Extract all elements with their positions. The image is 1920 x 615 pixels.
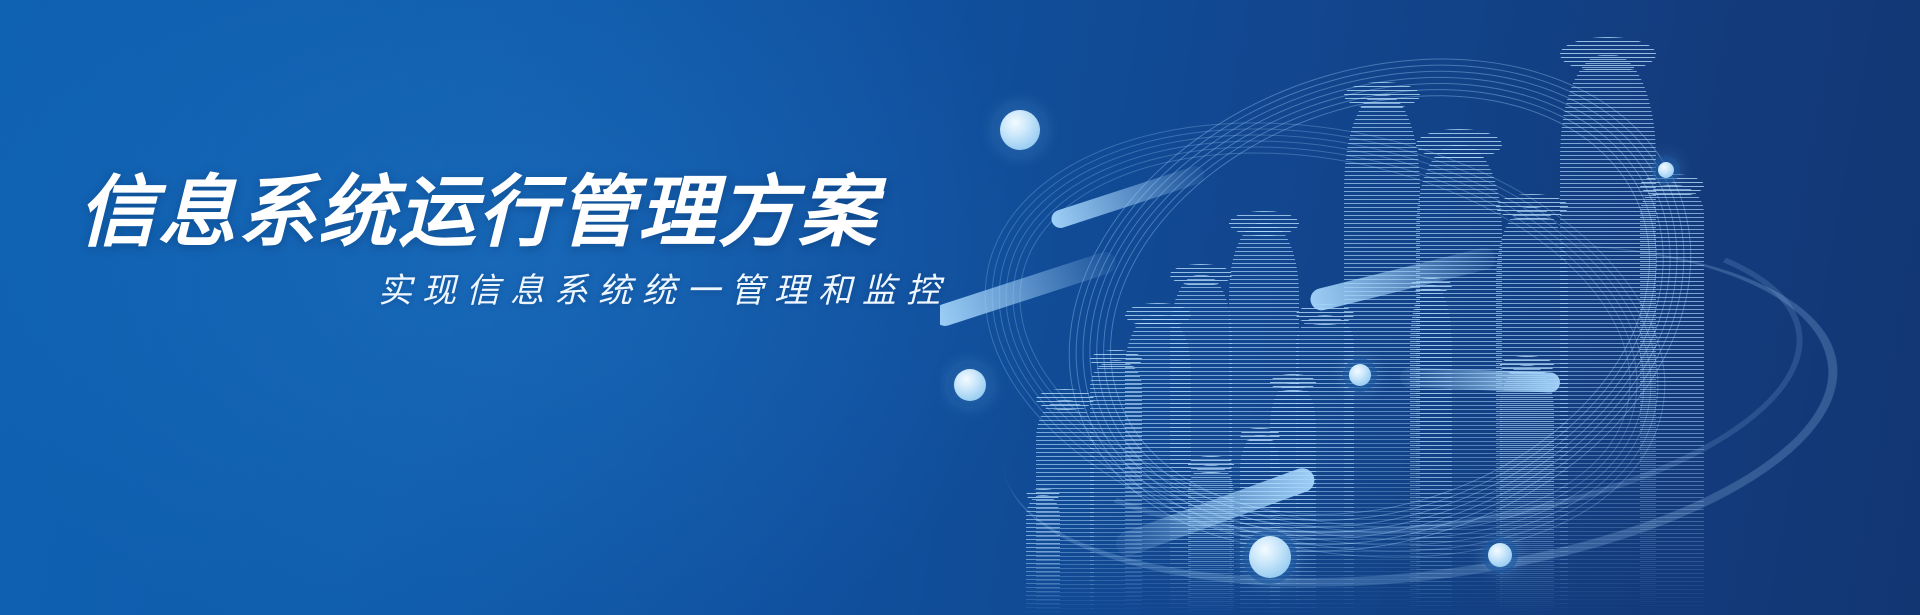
banner-artwork	[940, 0, 1920, 615]
glow-node	[954, 369, 986, 401]
glow-node-group	[940, 0, 1920, 615]
glow-node	[1349, 364, 1371, 386]
glow-node	[1249, 536, 1291, 578]
banner-title: 信息系统运行管理方案	[78, 168, 938, 257]
glow-node	[1488, 543, 1512, 567]
banner-root: 信息系统运行管理方案 实现信息系统统一管理和监控	[0, 0, 1920, 615]
banner-subtitle: 实现信息系统统一管理和监控	[78, 271, 938, 312]
banner-copy: 信息系统运行管理方案 实现信息系统统一管理和监控	[78, 168, 938, 312]
glow-node	[1658, 162, 1674, 178]
glow-node	[1000, 110, 1040, 150]
